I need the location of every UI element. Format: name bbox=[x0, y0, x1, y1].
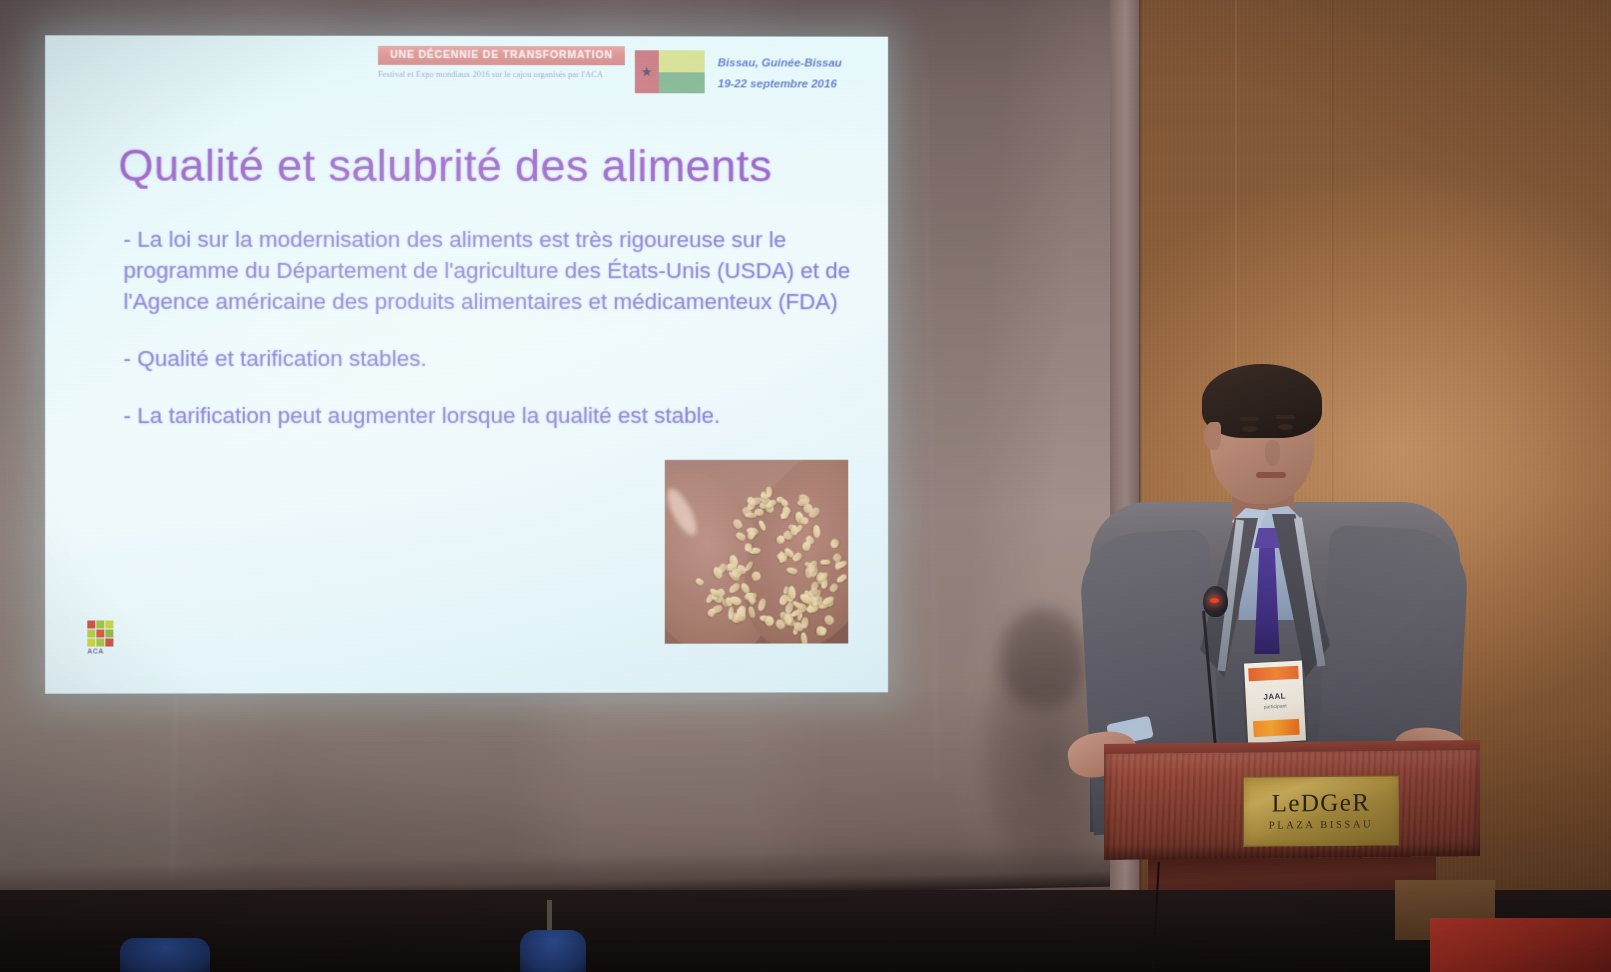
slide-bullet: - La tarification peut augmenter lorsque… bbox=[123, 400, 863, 431]
backdrop-wrinkle bbox=[470, 694, 790, 707]
flag-yellow-band bbox=[659, 50, 705, 72]
badge-name: JAAL bbox=[1250, 691, 1300, 703]
conference-badge: JAAL participant bbox=[1244, 661, 1306, 744]
slide-title: Qualité et salubrité des aliments bbox=[118, 141, 838, 192]
red-carpet bbox=[1430, 918, 1611, 972]
microphone-led-indicator bbox=[1210, 598, 1219, 603]
nose bbox=[1265, 440, 1280, 466]
venue-plaque-sub: PLAZA BISSAU bbox=[1269, 819, 1373, 831]
slide-body: - La loi sur la modernisation des alimen… bbox=[123, 224, 863, 431]
blue-chair bbox=[120, 938, 210, 972]
cashew-kernel bbox=[744, 513, 756, 518]
cashew-kernel bbox=[747, 531, 754, 540]
projected-slide: UNE DÉCENNIE DE TRANSFORMATION Festival … bbox=[45, 35, 888, 693]
eyebrow-left bbox=[1240, 417, 1259, 421]
slide-header-dates: 19-22 septembre 2016 bbox=[718, 78, 837, 90]
eyebrow-right bbox=[1276, 415, 1295, 419]
cashew-kernel bbox=[791, 525, 798, 535]
badge-subtitle: participant bbox=[1250, 703, 1300, 712]
slide-banner-text: UNE DÉCENNIE DE TRANSFORMATION bbox=[378, 46, 625, 65]
flag-green-band bbox=[659, 72, 705, 94]
backdrop-wrinkle bbox=[924, 80, 938, 780]
slide-bullet: - Qualité et tarification stables. bbox=[123, 343, 863, 374]
badge-color-band bbox=[1248, 666, 1299, 682]
aca-logo: ACA bbox=[87, 620, 119, 660]
slide-bullet: - La loi sur la modernisation des alimen… bbox=[123, 224, 863, 317]
cashew-kernels-photo bbox=[665, 460, 848, 644]
slide-header-banner: UNE DÉCENNIE DE TRANSFORMATION bbox=[378, 46, 625, 65]
aca-logo-grid bbox=[87, 620, 113, 646]
blue-chair bbox=[520, 930, 586, 972]
eye-right bbox=[1278, 424, 1293, 430]
aca-logo-caption: ACA bbox=[87, 649, 119, 656]
cashew-kernel bbox=[808, 564, 816, 572]
mouth bbox=[1256, 472, 1286, 478]
venue-plaque: LeDGeR PLAZA BISSAU bbox=[1243, 775, 1399, 847]
cashew-kernel bbox=[801, 617, 808, 628]
slide-header: UNE DÉCENNIE DE TRANSFORMATION Festival … bbox=[45, 35, 888, 114]
slide-header-location: Bissau, Guinée-Bissau bbox=[718, 57, 842, 69]
conference-photo-scene: UNE DÉCENNIE DE TRANSFORMATION Festival … bbox=[0, 0, 1611, 972]
venue-plaque-main: LeDGeR bbox=[1272, 790, 1371, 817]
flag-hoist-band: ★ bbox=[635, 50, 659, 93]
floor bbox=[0, 890, 1611, 972]
ear bbox=[1204, 422, 1221, 450]
slide-header-subtitle: Festival et Expo mondiaux 2016 sur le ca… bbox=[378, 69, 628, 81]
flag-bands bbox=[659, 50, 705, 93]
badge-logo bbox=[1253, 719, 1300, 737]
cashew-kernel bbox=[816, 626, 826, 636]
eye-left bbox=[1242, 426, 1257, 432]
flag-star-icon: ★ bbox=[641, 65, 653, 78]
guinea-bissau-flag-icon: ★ bbox=[635, 50, 705, 93]
